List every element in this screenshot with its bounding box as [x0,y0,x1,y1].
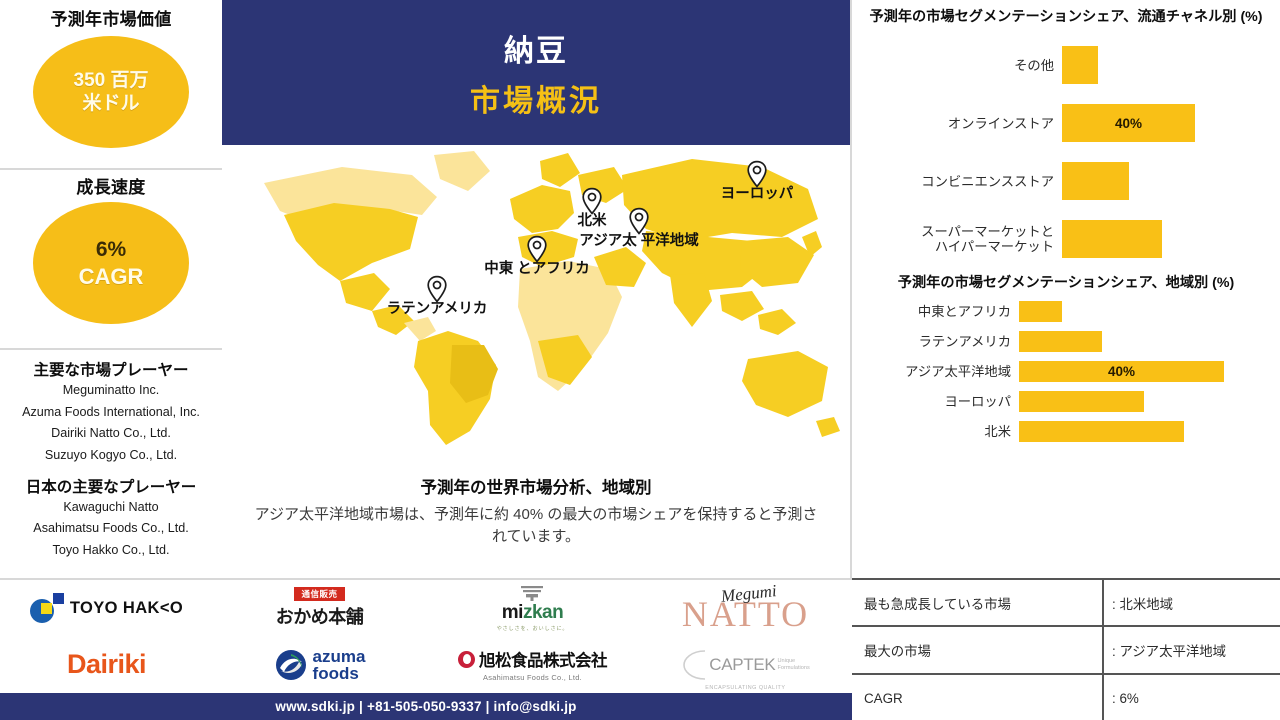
list-item: Asahimatsu Foods Co., Ltd. [33,518,188,540]
page-subtitle: 市場概況 [470,76,602,120]
infographic-page: 予測年市場価値 350 百万 米ドル 成長速度 6% CAGR 主要な市場プレー… [0,0,1280,720]
logo-text: 旭松食品株式会社 [479,647,607,671]
growth-rate-heading: 成長速度 [76,178,145,198]
bar-label: ヨーロッパ [862,394,1019,410]
key-players-title: 主要な市場プレーヤー [33,358,188,380]
logo-mizkan: mizkan やさしさを、おいしさに。 [497,585,569,632]
page-title: 納豆 [504,26,568,70]
table-row: アジア太平洋地域 40% [862,357,1270,387]
summary-info-table: 最も急成長している市場 : 北米地域 最大の市場 : アジア太平洋地域 CAGR… [852,578,1280,720]
captek-arc-icon [681,648,707,682]
logo-text: mizkan [502,602,563,624]
table-row: コンビニエンスストア [862,152,1270,210]
table-row: ヨーロッパ [862,387,1270,417]
footer-contact-bar: www.sdki.jp | +81-505-050-9337 | info@sd… [0,693,852,720]
map-pin-label: 北米 [578,213,607,229]
growth-rate-card: 成長速度 6% CAGR [0,170,222,350]
bar-label: 北米 [862,424,1019,440]
azuma-swirl-icon [274,648,308,682]
table-row: CAGR : 6% [852,675,1280,720]
market-value-heading: 予測年市場価値 [50,10,171,30]
center-map-column: 納豆 市場概況 [222,0,852,578]
list-item: Suzuyo Kogyo Co., Ltd. [45,445,177,467]
logo-text: Dairiki [67,649,146,680]
table-row: スーパーマーケットと ハイパーマーケット [862,210,1270,268]
market-value-line2: 米ドル [82,92,139,116]
cagr-label: CAGR [79,263,144,291]
chart-title-region: 予測年の市場セグメンテーションシェア、地域別 (%) [862,274,1270,292]
table-cell-value: : アジア太平洋地域 [1104,627,1280,672]
logo-subtext: やさしさを、おいしさに。 [497,625,569,632]
logo-okame-honpo: 通信販売 おかめ本舗 [276,587,364,629]
okame-badge: 通信販売 [294,587,344,601]
map-pin-label: 中東 とアフリカ [484,261,590,277]
location-pin-icon [581,187,603,215]
bar [1062,162,1129,200]
map-pin-label: ヨーロッパ [721,186,794,202]
japan-players-title: 日本の主要なプレーヤー [26,475,197,497]
market-value-bubble: 350 百万 米ドル [33,36,189,148]
distribution-channel-chart: その他 オンラインストア 40% コンビニエンスストア スーパーマーケットと ハ… [862,36,1270,268]
logo-captek: CAPTEK Unique Formulations ENCAPSULATING… [681,648,810,682]
table-cell-key: CAGR [852,675,1104,720]
toyo-hakko-mark-icon [30,593,64,623]
right-charts-column: 予測年の市場セグメンテーションシェア、流通チャネル別 (%) その他 オンライン… [852,0,1280,578]
list-item: Toyo Hakko Co., Ltd. [53,540,170,562]
bar-value: 40% [1108,364,1135,379]
table-cell-key: 最も急成長している市場 [852,580,1104,625]
bar-label: その他 [862,58,1062,74]
growth-rate-bubble: 6% CAGR [33,202,189,324]
table-cell-value: : 6% [1104,675,1280,720]
list-item: Meguminatto Inc. [63,380,160,402]
table-cell-value: : 北米地域 [1104,580,1280,625]
cagr-value: 6% [96,236,126,263]
bar: 40% [1019,361,1224,382]
logo-text: おかめ本舗 [276,603,364,629]
logo-text: foods [313,665,366,682]
location-pin-icon [426,275,448,303]
bar [1019,301,1062,322]
logo-dairiki: Dairiki [67,649,146,680]
location-pin-icon [526,235,548,263]
logo-toyo-hakko: TOYO HAK<O [30,593,183,623]
bar-label: ラテンアメリカ [862,334,1019,350]
asahimatsu-mark-icon [458,651,475,668]
table-row: その他 [862,36,1270,94]
logo-text: TOYO HAK<O [70,599,183,618]
logo-asahimatsu: 旭松食品株式会社 Asahimatsu Foods Co., Ltd. [458,647,607,682]
logo-azuma-foods: azuma foods [274,648,366,682]
list-item: Dairiki Natto Co., Ltd. [51,423,171,445]
bar-label: オンラインストア [862,116,1062,132]
list-item: Kawaguchi Natto [63,497,158,519]
market-value-card: 予測年市場価値 350 百万 米ドル [0,0,222,170]
market-value-line1: 350 百万 [74,69,149,93]
key-players-card: 主要な市場プレーヤー Meguminatto Inc. Azuma Foods … [0,350,222,578]
table-row: 最大の市場 : アジア太平洋地域 [852,627,1280,674]
list-item: Azuma Foods International, Inc. [22,402,200,424]
map-pin-label: ラテンアメリカ [387,301,488,317]
bar [1062,46,1098,84]
bar: 40% [1062,104,1195,142]
footer-contact-text[interactable]: www.sdki.jp | +81-505-050-9337 | info@sd… [275,699,576,714]
map-caption-body: アジア太平洋地域市場は、予測年に約 40% の最大の市場シェアを保持すると予測さ… [250,504,822,548]
bar [1019,421,1184,442]
bar-label: スーパーマーケットと ハイパーマーケット [862,224,1062,255]
table-row: 中東とアフリカ [862,297,1270,327]
chart-title-distribution: 予測年の市場セグメンテーションシェア、流通チャネル別 (%) [862,8,1270,26]
bar-label: アジア太平洋地域 [862,364,1019,380]
map-caption-title: 予測年の世界市場分析、地域別 [250,474,822,498]
left-stats-column: 予測年市場価値 350 百万 米ドル 成長速度 6% CAGR 主要な市場プレー… [0,0,222,578]
report-header: 納豆 市場概況 [222,0,850,145]
bar [1019,331,1102,352]
bar [1019,391,1144,412]
bar-value: 40% [1115,116,1142,131]
table-row: 最も急成長している市場 : 北米地域 [852,580,1280,627]
location-pin-icon [628,207,650,235]
logo-subtext: ENCAPSULATING QUALITY [705,685,785,691]
bar-label: コンビニエンスストア [862,174,1062,190]
company-logo-strip: TOYO HAK<O 通信販売 おかめ本舗 mizkan やさしさを、おいしさに… [0,578,852,693]
map-pin-label: アジア太 平洋地域 [579,233,698,249]
map-caption: 予測年の世界市場分析、地域別 アジア太平洋地域市場は、予測年に約 40% の最大… [222,470,850,548]
logo-subtext: Unique [777,658,809,665]
logo-subtext: Asahimatsu Foods Co., Ltd. [483,673,582,682]
region-chart: 中東とアフリカ ラテンアメリカ アジア太平洋地域 40% ヨーロッパ [862,297,1270,447]
location-pin-icon [746,160,768,188]
bar-label: 中東とアフリカ [862,304,1019,320]
table-row: オンラインストア 40% [862,94,1270,152]
table-row: ラテンアメリカ [862,327,1270,357]
logo-subtext: Formulations [777,665,809,672]
bar [1062,220,1162,258]
logo-text: CAPTEK [709,655,775,675]
mizkan-mark-icon [519,585,545,601]
table-row: 北米 [862,417,1270,447]
world-map: 北米 ヨーロッパ アジア太 平洋地域 [222,145,852,470]
table-cell-key: 最大の市場 [852,627,1104,672]
logo-megumi-natto: Megumi NATTO [682,584,809,632]
logo-text: azuma [313,648,366,665]
